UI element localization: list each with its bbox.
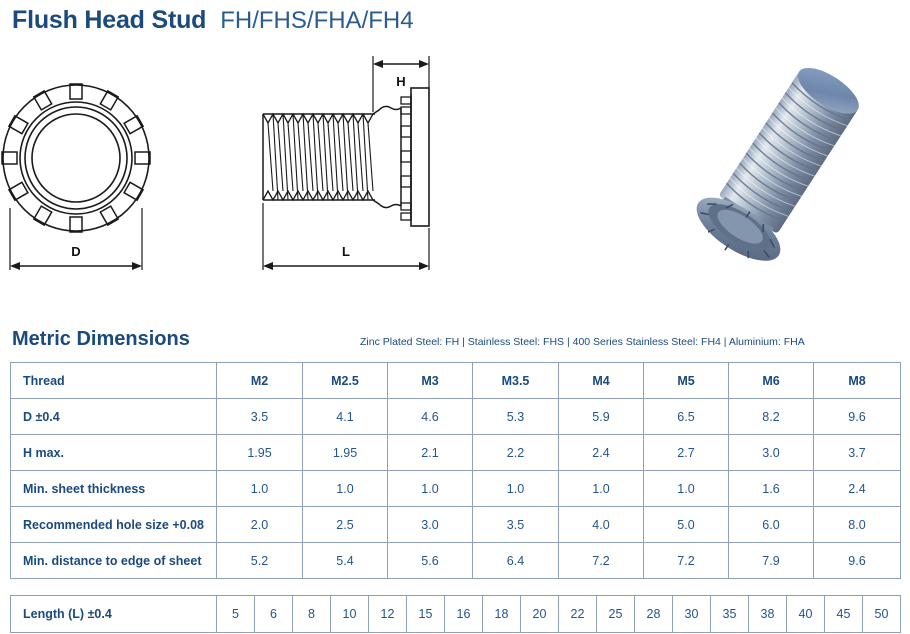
row-label: D ±0.4 <box>11 399 217 435</box>
column-header-m6: M6 <box>729 363 814 399</box>
length-cell: 6 <box>255 596 293 633</box>
length-cell: 22 <box>559 596 597 633</box>
top-view-drawing: D <box>0 48 230 298</box>
length-table: Length (L) ±0.45681012151618202225283035… <box>10 595 901 633</box>
table-cell: 5.2 <box>217 543 303 579</box>
length-cell: 30 <box>673 596 711 633</box>
table-cell: 5.4 <box>303 543 388 579</box>
table-cell: 3.7 <box>814 435 901 471</box>
table-cell: 5.9 <box>559 399 644 435</box>
table-cell: 1.0 <box>217 471 303 507</box>
table-cell: 2.5 <box>303 507 388 543</box>
column-header-m2: M2 <box>217 363 303 399</box>
table-row: D ±0.43.54.14.65.35.96.58.29.6 <box>11 399 901 435</box>
product-3d-render <box>640 48 910 298</box>
column-header-m2.5: M2.5 <box>303 363 388 399</box>
table-cell: 6.4 <box>473 543 559 579</box>
column-header-m4: M4 <box>559 363 644 399</box>
table-row: H max.1.951.952.12.22.42.73.03.7 <box>11 435 901 471</box>
table-cell: 5.3 <box>473 399 559 435</box>
product-name: Flush Head Stud <box>12 6 206 35</box>
table-cell: 1.95 <box>303 435 388 471</box>
table-cell: 2.2 <box>473 435 559 471</box>
table-cell: 7.2 <box>559 543 644 579</box>
table-cell: 7.9 <box>729 543 814 579</box>
length-cell: 28 <box>635 596 673 633</box>
column-header-m3.5: M3.5 <box>473 363 559 399</box>
table-cell: 6.0 <box>729 507 814 543</box>
table-cell: 4.0 <box>559 507 644 543</box>
table-cell: 8.2 <box>729 399 814 435</box>
table-cell: 7.2 <box>644 543 729 579</box>
table-cell: 2.7 <box>644 435 729 471</box>
table-cell: 3.5 <box>217 399 303 435</box>
length-cell: 25 <box>597 596 635 633</box>
table-cell: 2.0 <box>217 507 303 543</box>
row-label: Min. sheet thickness <box>11 471 217 507</box>
materials-note: Zinc Plated Steel: FH | Stainless Steel:… <box>360 336 805 348</box>
length-cell: 38 <box>749 596 787 633</box>
side-view-drawing: H L <box>245 48 535 298</box>
table-cell: 1.0 <box>388 471 473 507</box>
metric-dimensions-heading: Metric Dimensions Zinc Plated Steel: FH … <box>12 328 902 358</box>
datasheet-page: Flush Head Stud FH/FHS/FHA/FH4 <box>0 0 910 634</box>
table-cell: 9.6 <box>814 543 901 579</box>
table-cell: 4.1 <box>303 399 388 435</box>
thread-profile-graphic <box>263 88 429 226</box>
length-cell: 35 <box>711 596 749 633</box>
length-cell: 12 <box>369 596 407 633</box>
table-cell: 4.6 <box>388 399 473 435</box>
table-cell: 3.0 <box>388 507 473 543</box>
table-cell: 5.0 <box>644 507 729 543</box>
table-cell: 2.4 <box>559 435 644 471</box>
row-label: Min. distance to edge of sheet <box>11 543 217 579</box>
column-header-m8: M8 <box>814 363 901 399</box>
length-cell: 5 <box>217 596 255 633</box>
length-cell: 15 <box>407 596 445 633</box>
table-cell: 3.0 <box>729 435 814 471</box>
table-cell: 1.0 <box>303 471 388 507</box>
length-cell: 40 <box>787 596 825 633</box>
knurl-circle-graphic <box>2 84 150 232</box>
table-cell: 9.6 <box>814 399 901 435</box>
table-cell: 2.1 <box>388 435 473 471</box>
table-cell: 1.0 <box>559 471 644 507</box>
length-cell: 10 <box>331 596 369 633</box>
length-row-label: Length (L) ±0.4 <box>11 596 217 633</box>
table-row: Recommended hole size +0.082.02.53.03.54… <box>11 507 901 543</box>
dimensions-table: ThreadM2M2.5M3M3.5M4M5M6M8D ±0.43.54.14.… <box>10 362 901 579</box>
page-title: Flush Head Stud FH/FHS/FHA/FH4 <box>12 6 414 35</box>
dimension-label-h: H <box>396 74 405 89</box>
length-cell: 16 <box>445 596 483 633</box>
stud-body-3d <box>685 52 877 276</box>
table-cell: 1.6 <box>729 471 814 507</box>
table-row: Min. distance to edge of sheet5.25.45.66… <box>11 543 901 579</box>
length-row: Length (L) ±0.45681012151618202225283035… <box>11 596 901 633</box>
table-cell: 8.0 <box>814 507 901 543</box>
length-cell: 20 <box>521 596 559 633</box>
table-cell: 1.0 <box>473 471 559 507</box>
table-cell: 3.5 <box>473 507 559 543</box>
dimension-label-l: L <box>342 244 350 259</box>
column-header-m5: M5 <box>644 363 729 399</box>
length-cell: 8 <box>293 596 331 633</box>
table-cell: 1.95 <box>217 435 303 471</box>
dimension-label-d: D <box>71 244 80 259</box>
table-row: Min. sheet thickness1.01.01.01.01.01.01.… <box>11 471 901 507</box>
length-cell: 45 <box>825 596 863 633</box>
flange-knurl-teeth <box>401 97 411 220</box>
column-header-m3: M3 <box>388 363 473 399</box>
table-cell: 5.6 <box>388 543 473 579</box>
product-codes: FH/FHS/FHA/FH4 <box>220 7 413 35</box>
length-cell: 50 <box>863 596 901 633</box>
row-label: H max. <box>11 435 217 471</box>
column-header-thread: Thread <box>11 363 217 399</box>
drawings-area: D <box>0 48 910 298</box>
table-cell: 1.0 <box>644 471 729 507</box>
table-header-row: ThreadM2M2.5M3M3.5M4M5M6M8 <box>11 363 901 399</box>
table-cell: 2.4 <box>814 471 901 507</box>
table-cell: 6.5 <box>644 399 729 435</box>
section-title: Metric Dimensions <box>12 328 190 351</box>
length-cell: 18 <box>483 596 521 633</box>
row-label: Recommended hole size +0.08 <box>11 507 217 543</box>
